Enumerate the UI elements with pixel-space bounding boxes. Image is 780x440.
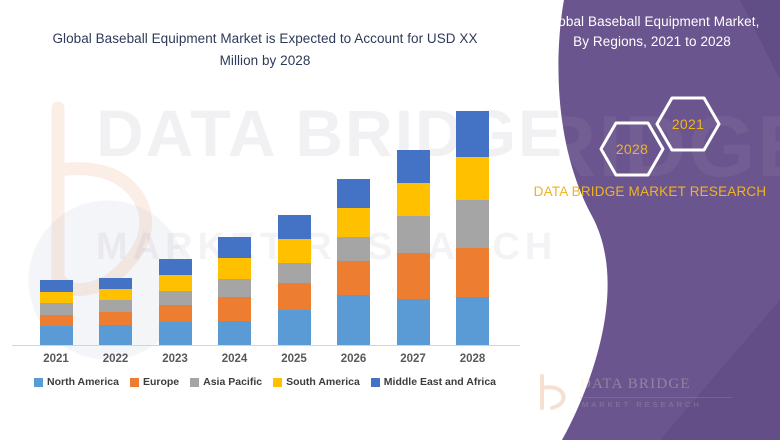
bar-segment	[337, 208, 370, 237]
hexagon-2021-label: 2021	[672, 116, 704, 132]
bar-segment	[278, 263, 311, 283]
legend-swatch-icon	[371, 378, 380, 387]
legend-item[interactable]: Asia Pacific	[190, 376, 262, 388]
bar-segment	[278, 283, 311, 310]
bar-segment	[218, 258, 251, 279]
bar-segment	[218, 321, 251, 345]
panel-logo: DATA BRIDGE MARKET RESEARCH	[536, 372, 756, 422]
bar-segment	[40, 326, 73, 345]
infographic-root: DATA BRIDGE MARKET RESEARCH Global Baseb…	[0, 0, 780, 440]
bar-segment	[99, 289, 132, 300]
bar-segment	[40, 315, 73, 326]
x-axis-label-2021: 2021	[26, 353, 86, 365]
bar-segment	[397, 253, 430, 299]
legend-label: South America	[286, 376, 360, 388]
legend-swatch-icon	[130, 378, 139, 387]
bar-segment	[337, 295, 370, 345]
legend-swatch-icon	[190, 378, 199, 387]
bar-segment	[40, 292, 73, 303]
legend-item[interactable]: North America	[34, 376, 119, 388]
x-axis-label-2022: 2022	[86, 353, 146, 365]
bar-segment	[218, 237, 251, 258]
legend-swatch-icon	[34, 378, 43, 387]
bar-2023	[159, 259, 192, 345]
bar-segment	[99, 300, 132, 312]
bar-segment	[218, 279, 251, 297]
bar-segment	[40, 303, 73, 315]
bar-segment	[337, 237, 370, 261]
bar-2022	[99, 278, 132, 345]
chart-legend: North AmericaEuropeAsia PacificSouth Ame…	[0, 376, 530, 388]
bar-segment	[397, 150, 430, 183]
panel-logo-divider	[580, 397, 732, 398]
panel-logo-text: DATA BRIDGE	[580, 376, 691, 393]
x-axis-label-2024: 2024	[205, 353, 265, 365]
bar-segment	[456, 157, 489, 200]
bar-segment	[99, 312, 132, 325]
legend-label: North America	[47, 376, 119, 388]
bar-segment	[278, 215, 311, 239]
legend-item[interactable]: Middle East and Africa	[371, 376, 496, 388]
x-axis-labels: 20212022202320242025202620272028	[0, 353, 530, 373]
x-axis-label-2027: 2027	[383, 353, 443, 365]
bar-segment	[40, 280, 73, 292]
legend-swatch-icon	[273, 378, 282, 387]
bar-segment	[456, 200, 489, 248]
bar-segment	[397, 299, 430, 345]
bar-segment	[278, 310, 311, 345]
x-axis-label-2026: 2026	[324, 353, 384, 365]
bar-segment	[159, 322, 192, 345]
hexagon-2028-label: 2028	[616, 141, 648, 157]
bar-2024	[218, 237, 251, 345]
legend-item[interactable]: Europe	[130, 376, 179, 388]
bar-segment	[456, 248, 489, 297]
bar-segment	[159, 275, 192, 291]
bar-segment	[337, 261, 370, 295]
b-logo-icon	[536, 374, 570, 412]
bar-2025	[278, 215, 311, 345]
bar-segment	[456, 297, 489, 345]
right-info-panel: BRIDGE Global Baseball Equipment Market,…	[500, 0, 780, 440]
bar-segment	[397, 183, 430, 216]
bar-2028	[456, 111, 489, 345]
bar-segment	[159, 291, 192, 305]
bar-2021	[40, 280, 73, 345]
legend-label: Asia Pacific	[203, 376, 262, 388]
bar-segment	[159, 259, 192, 275]
bar-segment	[218, 297, 251, 321]
bar-segment	[278, 239, 311, 263]
x-axis-label-2025: 2025	[264, 353, 324, 365]
chart-panel: DATA BRIDGE MARKET RESEARCH Global Baseb…	[0, 0, 530, 440]
x-axis-label-2028: 2028	[443, 353, 503, 365]
bar-segment	[397, 216, 430, 253]
legend-label: Europe	[143, 376, 179, 388]
bar-segment	[456, 111, 489, 157]
bar-segment	[99, 325, 132, 345]
x-axis-line	[12, 345, 520, 346]
bar-2026	[337, 179, 370, 345]
stacked-bar-plot: 20212022202320242025202620272028	[0, 0, 530, 440]
bar-segment	[159, 305, 192, 322]
legend-item[interactable]: South America	[273, 376, 360, 388]
bar-2027	[397, 150, 430, 345]
panel-logo-subtext: MARKET RESEARCH	[582, 400, 702, 409]
x-axis-label-2023: 2023	[145, 353, 205, 365]
bar-segment	[99, 278, 132, 289]
bar-segment	[337, 179, 370, 208]
legend-label: Middle East and Africa	[384, 376, 496, 388]
panel-title: Global Baseball Equipment Market, By Reg…	[538, 12, 766, 53]
